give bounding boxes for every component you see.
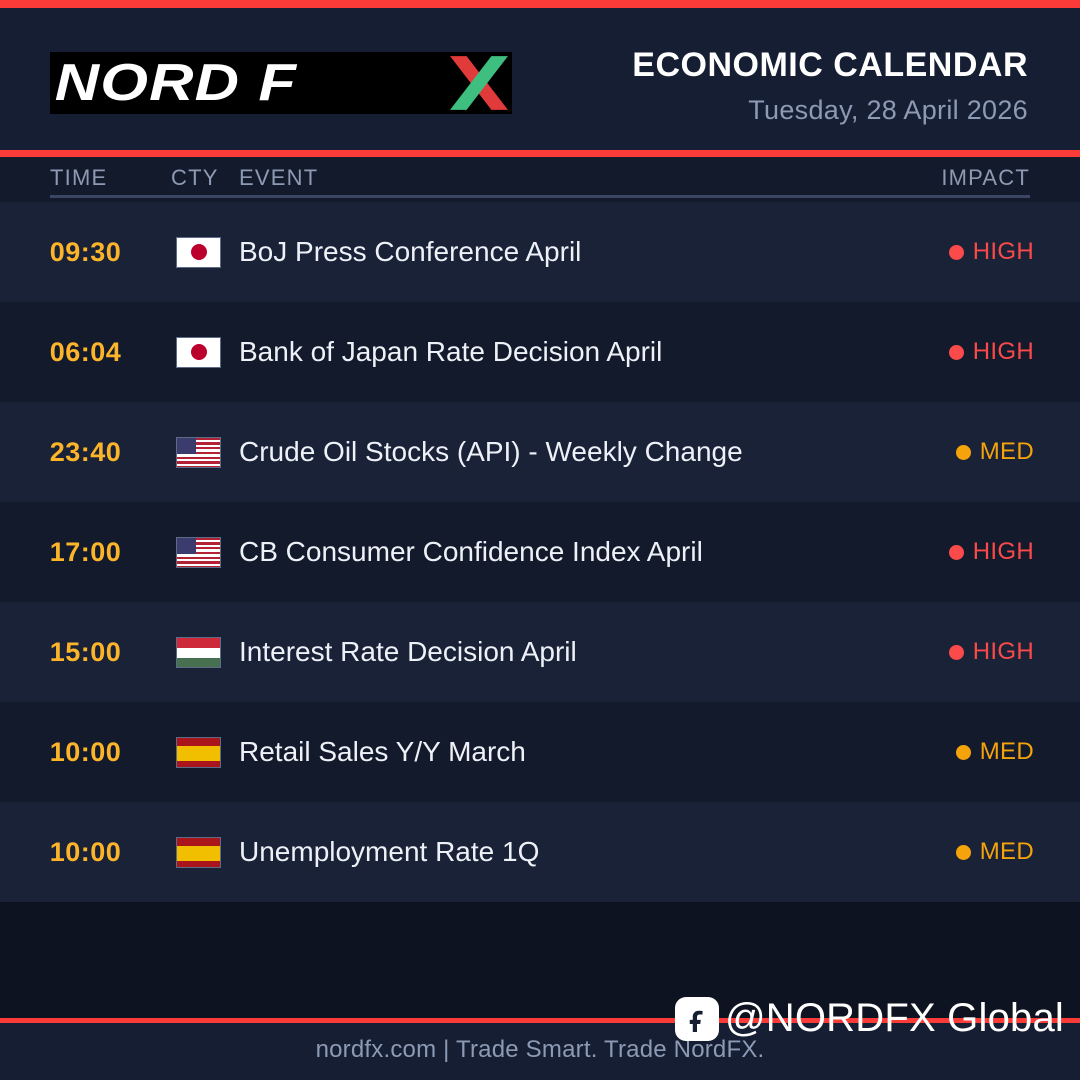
- events-table-body: 09:30BoJ Press Conference AprilHIGH06:04…: [0, 202, 1080, 902]
- event-time: 17:00: [0, 502, 171, 602]
- event-name: Unemployment Rate 1Q: [239, 802, 880, 902]
- country-flag-cell: [176, 802, 232, 902]
- table-row[interactable]: 10:00Retail Sales Y/Y MarchMED: [0, 702, 1080, 802]
- country-flag-cell: [176, 502, 232, 602]
- top-accent-bar: [0, 0, 1080, 8]
- country-flag-cell: [176, 702, 232, 802]
- impact-badge: HIGH: [874, 202, 1034, 302]
- page-title: ECONOMIC CALENDAR: [632, 46, 1028, 85]
- column-header-event: EVENT: [239, 165, 318, 191]
- column-header-rule: [50, 195, 1030, 198]
- table-row[interactable]: 17:00CB Consumer Confidence Index AprilH…: [0, 502, 1080, 602]
- impact-label: MED: [980, 738, 1034, 766]
- impact-dot-icon: [956, 445, 971, 460]
- flag-jp-icon: [176, 237, 221, 268]
- card-header: NORD F ECONOMIC CALENDAR Tuesday, 28 Apr…: [0, 8, 1080, 150]
- impact-label: HIGH: [973, 238, 1034, 266]
- logo-wordmark: NORD F: [50, 53, 297, 113]
- impact-label: MED: [980, 838, 1034, 866]
- impact-label: HIGH: [973, 638, 1034, 666]
- social-handle-text: @NORDFX Global: [725, 996, 1064, 1041]
- flag-es-icon: [176, 837, 221, 868]
- card-footer: nordfx.com | Trade Smart. Trade NordFX. …: [0, 1023, 1080, 1080]
- nordfx-logo[interactable]: NORD F: [50, 52, 512, 114]
- flag-hu-icon: [176, 637, 221, 668]
- country-flag-cell: [176, 602, 232, 702]
- event-name: Retail Sales Y/Y March: [239, 702, 880, 802]
- social-handle-group[interactable]: @NORDFX Global: [675, 996, 1064, 1041]
- table-row[interactable]: 06:04Bank of Japan Rate Decision AprilHI…: [0, 302, 1080, 402]
- event-time: 15:00: [0, 602, 171, 702]
- event-name: Bank of Japan Rate Decision April: [239, 302, 880, 402]
- impact-badge: MED: [874, 802, 1034, 902]
- event-time: 23:40: [0, 402, 171, 502]
- economic-calendar-card: NORD F ECONOMIC CALENDAR Tuesday, 28 Apr…: [0, 0, 1080, 1080]
- country-flag-cell: [176, 202, 232, 302]
- flag-us-icon: [176, 537, 221, 568]
- event-time: 10:00: [0, 702, 171, 802]
- column-header-country: CTY: [171, 165, 219, 191]
- impact-label: HIGH: [973, 338, 1034, 366]
- event-name: Interest Rate Decision April: [239, 602, 880, 702]
- event-time: 06:04: [0, 302, 171, 402]
- impact-label: MED: [980, 438, 1034, 466]
- table-row[interactable]: 15:00Interest Rate Decision AprilHIGH: [0, 602, 1080, 702]
- impact-dot-icon: [949, 645, 964, 660]
- event-time: 10:00: [0, 802, 171, 902]
- impact-dot-icon: [949, 345, 964, 360]
- event-time: 09:30: [0, 202, 171, 302]
- table-row[interactable]: 10:00Unemployment Rate 1QMED: [0, 802, 1080, 902]
- facebook-icon[interactable]: [675, 997, 719, 1041]
- column-header-impact: IMPACT: [941, 165, 1030, 191]
- table-column-header: TIME CTY EVENT IMPACT: [0, 157, 1080, 202]
- country-flag-cell: [176, 402, 232, 502]
- country-flag-cell: [176, 302, 232, 402]
- impact-dot-icon: [949, 545, 964, 560]
- impact-dot-icon: [949, 245, 964, 260]
- impact-badge: HIGH: [874, 302, 1034, 402]
- flag-us-icon: [176, 437, 221, 468]
- event-name: BoJ Press Conference April: [239, 202, 880, 302]
- table-row[interactable]: 09:30BoJ Press Conference AprilHIGH: [0, 202, 1080, 302]
- column-header-time: TIME: [50, 165, 107, 191]
- x-mark-icon: [448, 54, 510, 112]
- header-divider-accent: [0, 150, 1080, 157]
- impact-badge: MED: [874, 402, 1034, 502]
- impact-badge: MED: [874, 702, 1034, 802]
- flag-jp-icon: [176, 337, 221, 368]
- header-date: Tuesday, 28 April 2026: [748, 95, 1028, 126]
- event-name: CB Consumer Confidence Index April: [239, 502, 880, 602]
- impact-dot-icon: [956, 845, 971, 860]
- event-name: Crude Oil Stocks (API) - Weekly Change: [239, 402, 880, 502]
- flag-es-icon: [176, 737, 221, 768]
- impact-dot-icon: [956, 745, 971, 760]
- impact-badge: HIGH: [874, 602, 1034, 702]
- impact-badge: HIGH: [874, 502, 1034, 602]
- impact-label: HIGH: [973, 538, 1034, 566]
- table-row[interactable]: 23:40Crude Oil Stocks (API) - Weekly Cha…: [0, 402, 1080, 502]
